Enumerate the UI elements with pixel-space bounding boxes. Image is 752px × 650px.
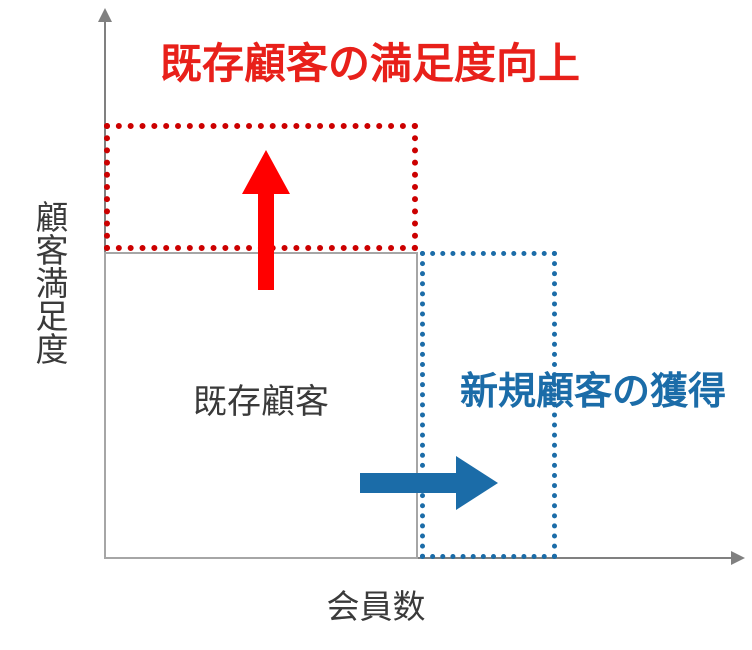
blue-callout-text: 新規顧客の獲得 (460, 360, 745, 415)
x-axis-arrowhead-icon (731, 551, 745, 565)
existing-customers-label: 既存顧客 (104, 374, 418, 423)
y-axis-arrowhead-icon (98, 8, 112, 22)
diagram-canvas: 顧客満足度 会員数 既存顧客 既存顧客の満足度向上 新規顧客の獲得 (0, 0, 752, 650)
y-axis-label: 顧客満足度 (20, 200, 66, 365)
red-title-text: 既存顧客の満足度向上 (160, 30, 560, 91)
right-arrow-icon (360, 450, 498, 516)
x-axis-label: 会員数 (0, 580, 752, 628)
up-arrow-icon (238, 150, 294, 290)
